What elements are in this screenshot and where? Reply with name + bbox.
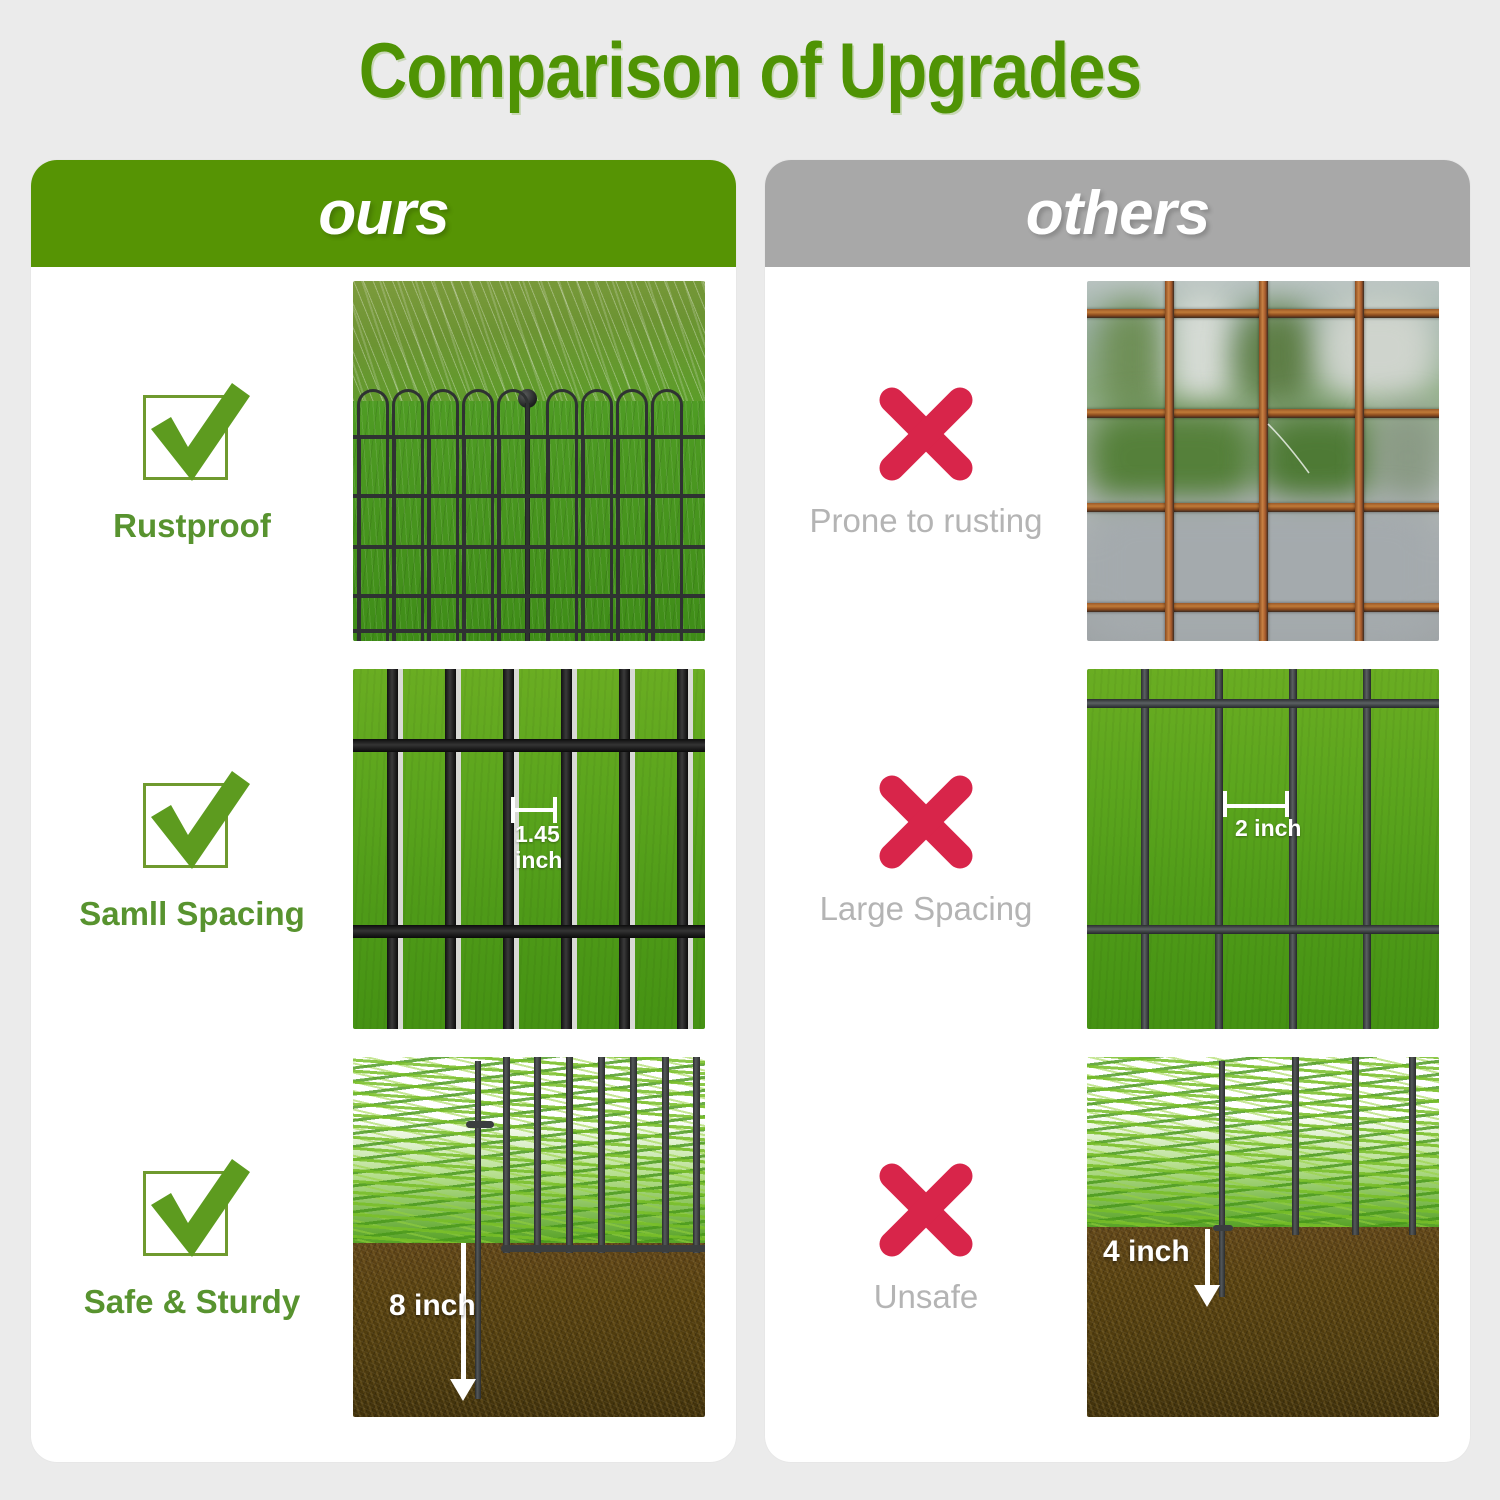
row-label-col: Samll Spacing	[31, 765, 353, 933]
row-label-unsafe: Unsafe	[874, 1278, 979, 1316]
check-box-icon	[131, 1153, 253, 1265]
page-title: Comparison of Upgrades	[105, 24, 1395, 116]
row-label-prone-to-rusting: Prone to rusting	[810, 502, 1043, 540]
red-x-icon	[874, 382, 978, 486]
row-rustproof-ours: Rustproof	[31, 267, 736, 655]
row-rusting-others: Prone to rusting	[765, 267, 1470, 655]
card-header-ours: ours	[31, 160, 736, 267]
card-header-others: others	[765, 160, 1470, 267]
comparison-card-ours: ours Rustproof	[31, 160, 736, 1462]
comparison-card-others: others Prone to rusting	[765, 160, 1470, 1462]
row-label-col: Rustproof	[31, 377, 353, 545]
row-label-large-spacing: Large Spacing	[820, 890, 1033, 928]
row-label-safe-sturdy: Safe & Sturdy	[84, 1283, 300, 1321]
deep-ground-stake-diagram: 8 inch	[353, 1057, 705, 1417]
row-label-rustproof: Rustproof	[113, 507, 271, 545]
row-label-col: Safe & Sturdy	[31, 1153, 353, 1321]
rusted-wire-mesh-photo	[1087, 281, 1439, 641]
narrow-spacing-fence-diagram: 1.45 inch	[353, 669, 705, 1029]
rainy-black-garden-fence-photo	[353, 281, 705, 641]
depth-label-4-inch: 4 inch	[1103, 1235, 1190, 1269]
dimension-unit-inch: inch	[515, 847, 562, 873]
row-unsafe-others: Unsafe 4 inch	[765, 1043, 1470, 1431]
row-label-col: Large Spacing	[765, 770, 1087, 928]
others-rows: Prone to rusting	[765, 267, 1470, 1431]
row-sturdy-ours: Safe & Sturdy 8 inch	[31, 1043, 736, 1431]
wide-spacing-fence-diagram: 2 inch	[1087, 669, 1439, 1029]
card-header-label-others: others	[1026, 178, 1209, 249]
check-box-icon	[131, 765, 253, 877]
row-label-col: Unsafe	[765, 1158, 1087, 1316]
check-box-icon	[131, 377, 253, 489]
row-label-col: Prone to rusting	[765, 382, 1087, 540]
row-spacing-others: Large Spacing 2 inch	[765, 655, 1470, 1043]
row-label-small-spacing: Samll Spacing	[79, 895, 305, 933]
dimension-value-2-inch: 2 inch	[1235, 815, 1301, 841]
row-spacing-ours: Samll Spacing 1.	[31, 655, 736, 1043]
ours-rows: Rustproof	[31, 267, 736, 1431]
red-x-icon	[874, 1158, 978, 1262]
shallow-ground-stake-diagram: 4 inch	[1087, 1057, 1439, 1417]
depth-label-8-inch: 8 inch	[389, 1289, 476, 1323]
red-x-icon	[874, 770, 978, 874]
dimension-value-145: 1.45	[515, 821, 560, 847]
card-header-label-ours: ours	[318, 178, 448, 249]
